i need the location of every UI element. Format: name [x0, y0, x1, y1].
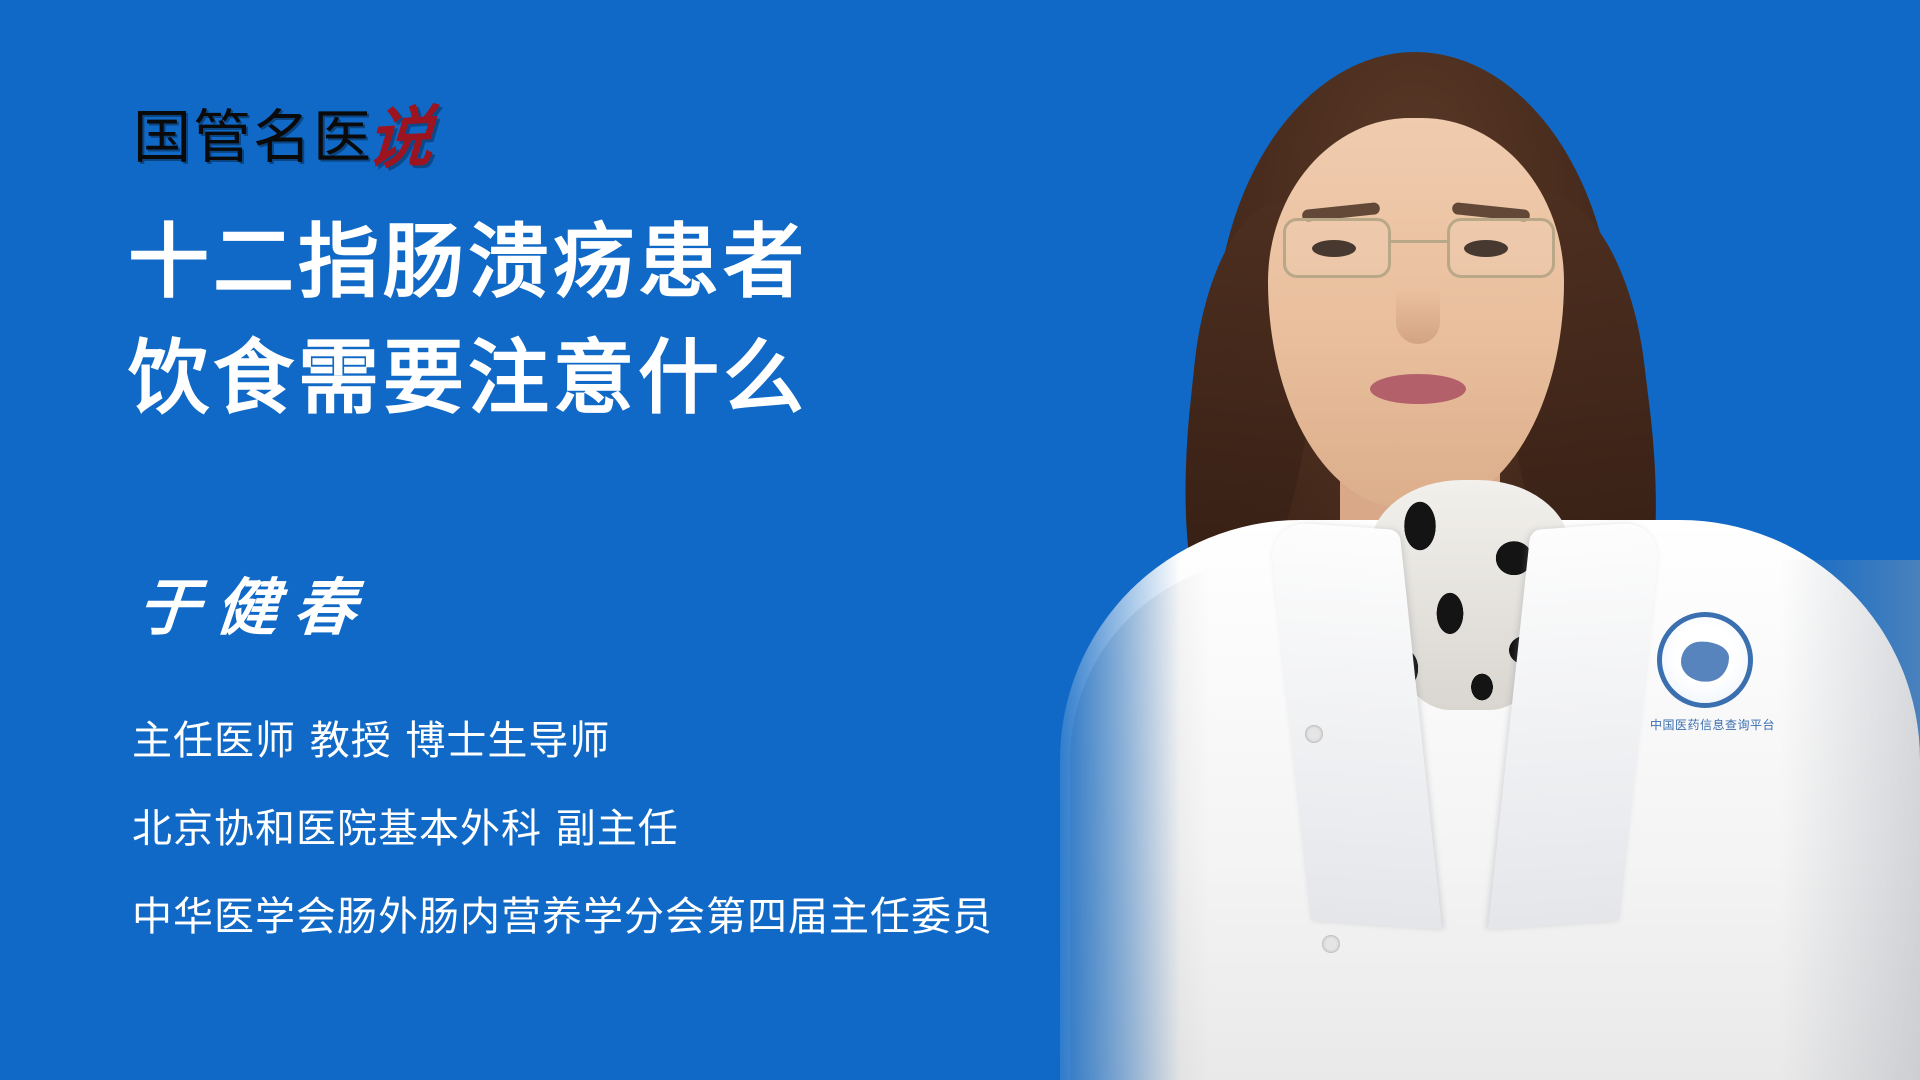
doctor-name: 于健春 [135, 570, 376, 646]
slide-canvas: 国管名医 说 十二指肠溃疡患者 饮食需要注意什么 于健春 主任医师 教授 博士生… [0, 0, 1920, 1080]
lab-coat-button-1 [1305, 725, 1323, 743]
glasses-icon [1283, 218, 1555, 284]
chest-badge-emblem-icon [1657, 612, 1753, 708]
glasses-lens-left [1283, 218, 1391, 278]
portrait-edge-blend [1040, 0, 1180, 1080]
portrait-mouth [1370, 374, 1466, 404]
doctor-portrait: 中国医药信息查询平台 [1040, 0, 1920, 1080]
glasses-bridge [1391, 240, 1447, 243]
glasses-lens-right [1447, 218, 1555, 278]
credential-line-1: 主任医师 教授 博士生导师 [132, 697, 1192, 785]
page-title-line-2: 饮食需要注意什么 [128, 321, 1108, 437]
lab-coat-button-2 [1322, 935, 1340, 953]
portrait-nose [1396, 288, 1440, 344]
credential-line-2: 北京协和医院基本外科 副主任 [132, 785, 1192, 873]
page-title-line-1: 十二指肠溃疡患者 [128, 205, 1108, 321]
brand-logo-main-text: 国管名医 [133, 106, 373, 168]
chest-badge: 中国医药信息查询平台 [1650, 612, 1760, 744]
page-title: 十二指肠溃疡患者 饮食需要注意什么 [128, 205, 1108, 437]
doctor-credentials: 主任医师 教授 博士生导师 北京协和医院基本外科 副主任 中华医学会肠外肠内营养… [132, 697, 1192, 961]
brand-logo: 国管名医 说 [133, 96, 433, 168]
credential-line-3: 中华医学会肠外肠内营养学分会第四届主任委员 [132, 873, 1192, 961]
brand-logo-accent-text: 说 [365, 106, 434, 169]
chest-badge-text: 中国医药信息查询平台 [1650, 716, 1760, 733]
